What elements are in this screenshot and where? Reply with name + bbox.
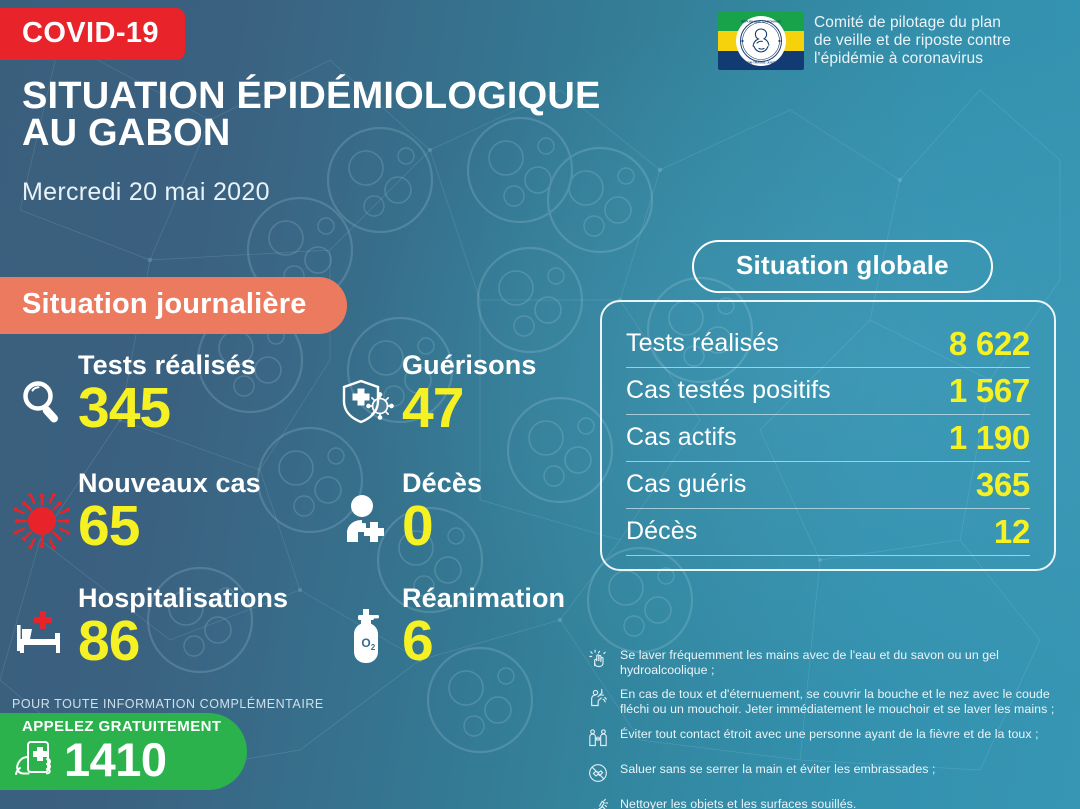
stat-value: 0: [402, 498, 482, 555]
distance-icon: [588, 727, 612, 753]
stat-deces: Décès 0: [330, 470, 482, 555]
stat-value: 65: [78, 498, 261, 555]
global-row-label: Cas guéris: [626, 470, 747, 499]
stat-label: Nouveaux cas: [78, 470, 261, 497]
global-row: Décès 12: [626, 508, 1030, 556]
covid-badge: COVID-19: [0, 8, 185, 60]
hygiene-tips-list: Se laver fréquemment les mains avec de l…: [588, 648, 1070, 809]
global-row-value: 12: [994, 513, 1030, 551]
global-row-value: 1 190: [949, 419, 1030, 457]
hygiene-tip-text: Se laver fréquemment les mains avec de l…: [620, 648, 1070, 678]
stat-guerisons: Guérisons 47: [330, 352, 536, 437]
stat-label: Guérisons: [402, 352, 536, 379]
svg-text:UNION·TRAVAIL·JUSTICE: UNION·TRAVAIL·JUSTICE: [742, 61, 780, 65]
stat-label: Hospitalisations: [78, 585, 288, 612]
stat-nouveaux-cas: Nouveaux cas 65: [6, 470, 261, 555]
hygiene-tip: Se laver fréquemment les mains avec de l…: [588, 648, 1070, 678]
global-row-value: 8 622: [949, 325, 1030, 363]
hygiene-tip: Nettoyer les objets et les surfaces soui…: [588, 797, 1070, 809]
title-line-1: SITUATION ÉPIDÉMIOLOGIQUE: [22, 75, 601, 117]
hotline-number: 1410: [64, 736, 167, 783]
hygiene-tip-text: En cas de toux et d'éternuement, se couv…: [620, 687, 1070, 717]
svg-text:2: 2: [371, 643, 376, 652]
stat-label: Décès: [402, 470, 482, 497]
global-row-value: 365: [976, 466, 1030, 504]
gabon-flag-icon: RÉPUBLIQUE GABONAISE UNION·TRAVAIL·JUSTI…: [718, 12, 804, 70]
stat-label: Réanimation: [402, 585, 565, 612]
svg-text:O: O: [361, 636, 370, 650]
infographic-poster: COVID-19 SITUATION ÉPIDÉMIOLOGIQUE AU GA…: [0, 0, 1080, 809]
global-row-label: Tests réalisés: [626, 329, 779, 358]
org-line-1: Comité de pilotage du plan: [814, 14, 1011, 32]
coronavirus-icon: [6, 470, 78, 550]
stat-value: 86: [78, 613, 288, 670]
stat-value: 47: [402, 380, 536, 437]
stat-tests-realises: Tests réalisés 345: [6, 352, 256, 437]
global-situation-heading: Situation globale: [692, 240, 993, 293]
cough-elbow-icon: [588, 687, 612, 713]
organisation-logo: RÉPUBLIQUE GABONAISE UNION·TRAVAIL·JUSTI…: [718, 12, 1011, 70]
report-date: Mercredi 20 mai 2020: [22, 178, 270, 207]
global-row-value: 1 567: [949, 372, 1030, 410]
stat-hospitalisations: Hospitalisations 86: [6, 585, 288, 670]
organisation-name: Comité de pilotage du plan de veille et …: [814, 14, 1011, 68]
shield-virus-icon: [330, 352, 402, 432]
clean-surface-icon: [588, 797, 612, 809]
person-cross-icon: [330, 470, 402, 548]
page-title: SITUATION ÉPIDÉMIOLOGIQUE AU GABON: [22, 78, 601, 152]
stat-value: 345: [78, 380, 256, 437]
stat-label: Tests réalisés: [78, 352, 256, 379]
global-row: Cas actifs 1 190: [626, 414, 1030, 462]
global-row: Cas guéris 365: [626, 461, 1030, 509]
hygiene-tip: Éviter tout contact étroit avec une pers…: [588, 727, 1070, 753]
no-handshake-icon: [588, 762, 612, 788]
global-row: Tests réalisés 8 622: [626, 320, 1030, 368]
republic-seal-icon: RÉPUBLIQUE GABONAISE UNION·TRAVAIL·JUSTI…: [735, 15, 787, 67]
hygiene-tip-text: Saluer sans se serrer la main et éviter …: [620, 762, 936, 777]
magnifier-icon: [6, 352, 78, 430]
global-row-label: Cas testés positifs: [626, 376, 831, 405]
hospital-bed-icon: [6, 585, 78, 659]
washing-hands-icon: [588, 648, 612, 674]
global-row-label: Cas actifs: [626, 423, 737, 452]
hotline-banner[interactable]: APPELEZ GRATUITEMENT 1410: [0, 713, 247, 790]
daily-situation-heading: Situation journalière: [0, 277, 347, 334]
hand-phone-icon: [12, 737, 58, 783]
global-situation-panel: Tests réalisés 8 622 Cas testés positifs…: [600, 300, 1056, 571]
title-line-2: AU GABON: [22, 115, 601, 152]
org-line-3: l'épidémie à coronavirus: [814, 50, 1011, 68]
stat-reanimation: O 2 Réanimation 6: [330, 585, 565, 670]
stat-value: 6: [402, 613, 565, 670]
org-line-2: de veille et de riposte contre: [814, 32, 1011, 50]
hotline-info-line: POUR TOUTE INFORMATION COMPLÉMENTAIRE: [12, 697, 324, 711]
hygiene-tip-text: Nettoyer les objets et les surfaces soui…: [620, 797, 856, 809]
hygiene-tip: Saluer sans se serrer la main et éviter …: [588, 762, 1070, 788]
hygiene-tip: En cas de toux et d'éternuement, se couv…: [588, 687, 1070, 717]
svg-text:RÉPUBLIQUE GABONAISE: RÉPUBLIQUE GABONAISE: [741, 18, 781, 23]
global-row: Cas testés positifs 1 567: [626, 367, 1030, 415]
global-row-label: Décès: [626, 517, 697, 546]
hygiene-tip-text: Éviter tout contact étroit avec une pers…: [620, 727, 1039, 742]
oxygen-tank-icon: O 2: [330, 585, 402, 667]
